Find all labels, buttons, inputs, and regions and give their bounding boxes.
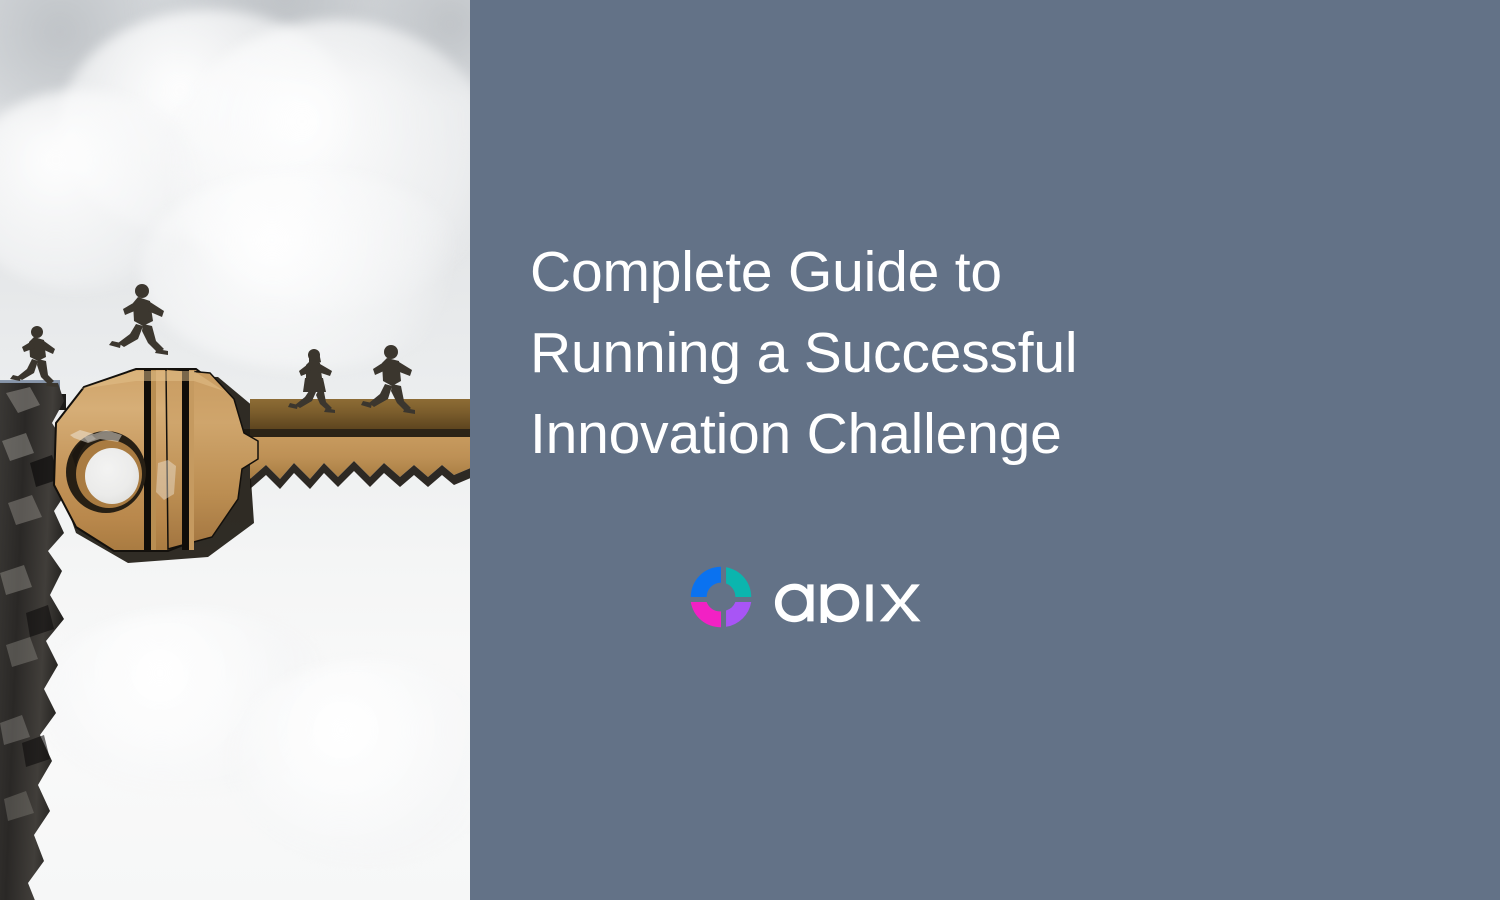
cloud-decoration	[120, 0, 450, 80]
runner-2-man-leaping	[108, 283, 170, 355]
runner-3-woman	[287, 348, 337, 414]
cloud-decoration	[0, 0, 180, 120]
ring-segment-bottom-left	[691, 602, 721, 627]
page-title: Complete Guide to Running a Successful I…	[530, 232, 1170, 475]
apix-wordmark	[771, 571, 925, 623]
hero-image	[0, 0, 470, 900]
ring-segment-top-right	[726, 567, 751, 597]
cloud-decoration	[60, 10, 360, 240]
cloud-decoration	[0, 90, 200, 290]
apix-logo[interactable]	[685, 561, 1500, 633]
runner-1-man-on-ledge	[8, 325, 60, 387]
content-panel: Complete Guide to Running a Successful I…	[470, 0, 1500, 900]
runner-4-man	[360, 344, 416, 414]
ring-segment-bottom-right	[726, 602, 751, 627]
banner: Complete Guide to Running a Successful I…	[0, 0, 1500, 900]
cloud-decoration	[360, 0, 470, 90]
cloud-decoration	[170, 20, 470, 310]
cloud-decoration	[230, 660, 470, 860]
apix-ring-logo-icon	[685, 561, 757, 633]
ring-segment-top-left	[691, 567, 721, 597]
